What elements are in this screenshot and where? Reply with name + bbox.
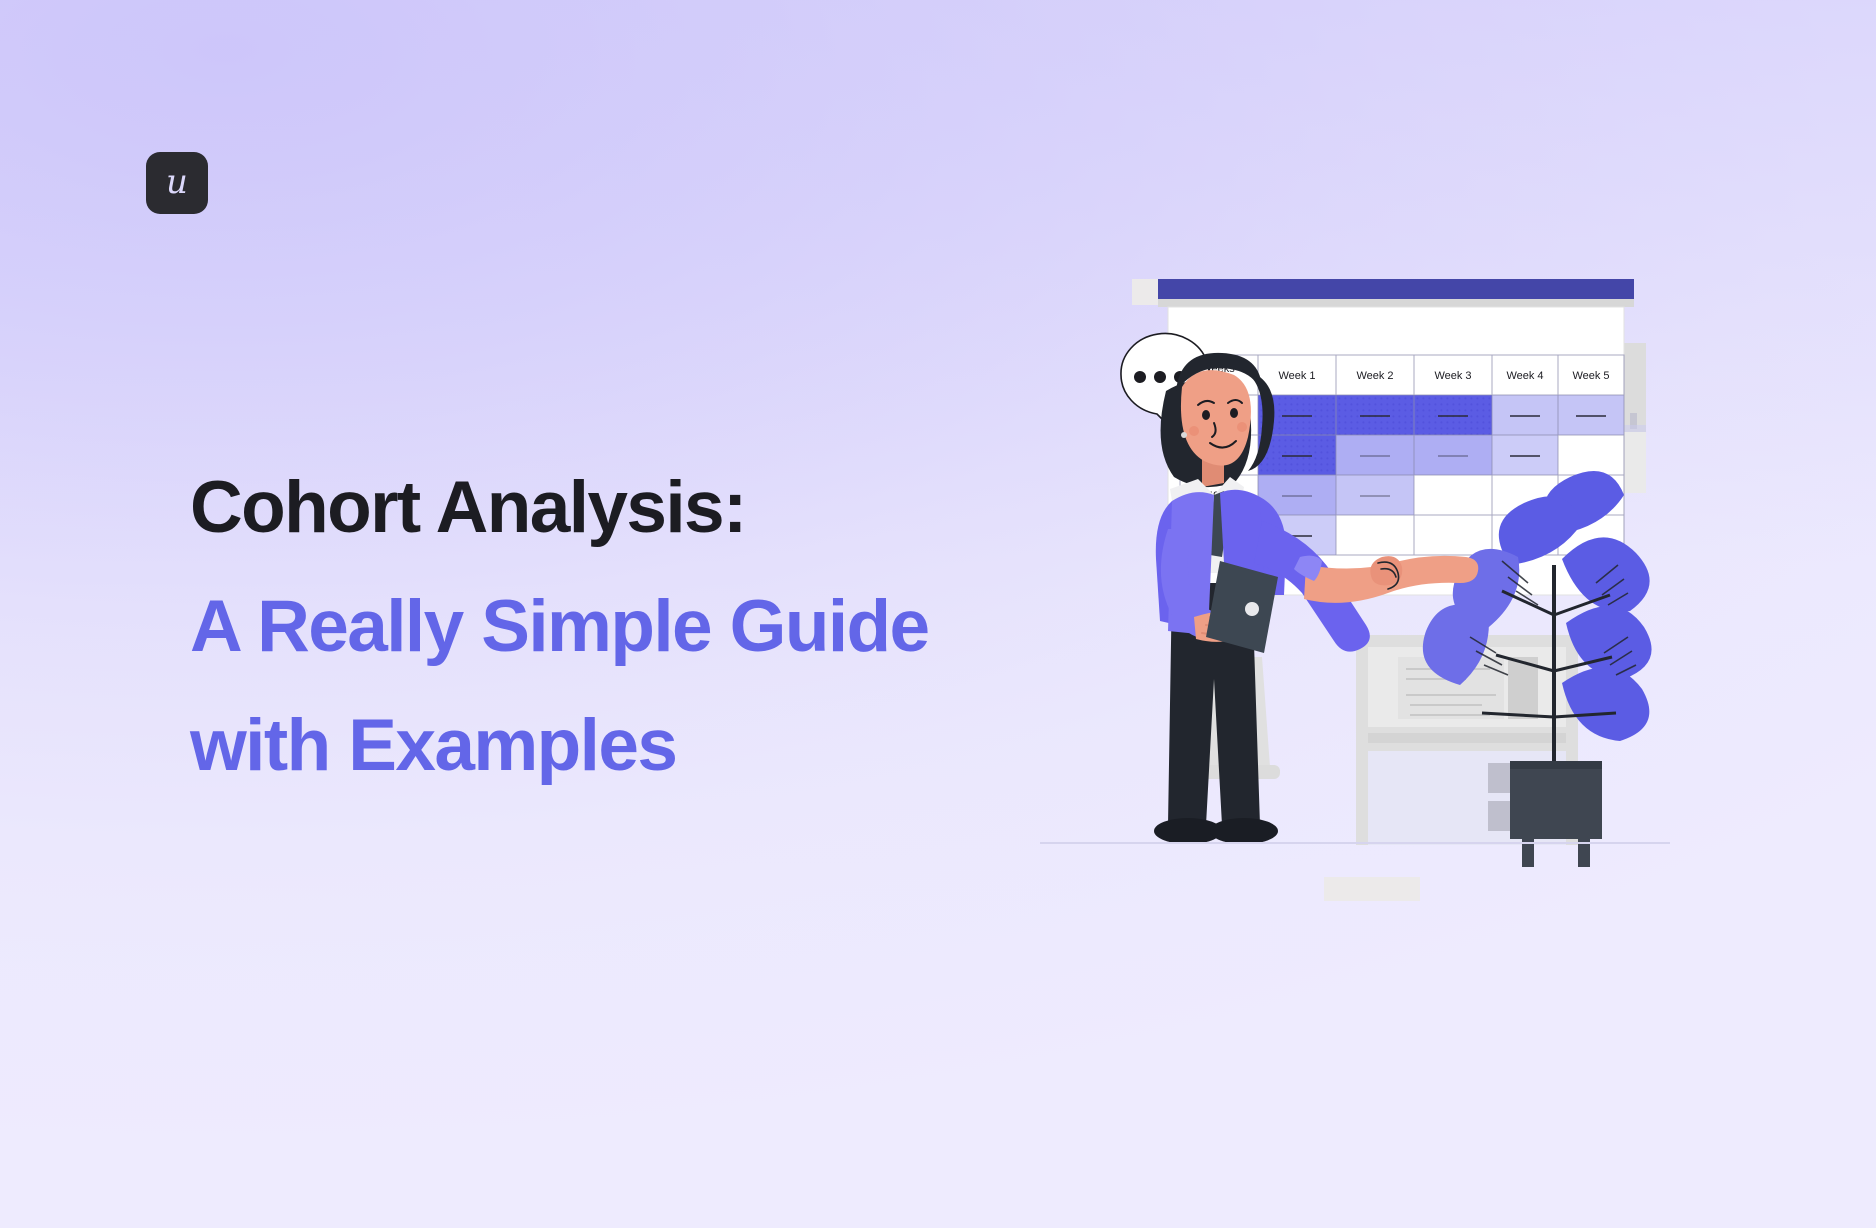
headline-line-2: A Really Simple Guide: [190, 567, 1130, 686]
page-title: Cohort Analysis: A Really Simple Guide w…: [190, 448, 1130, 805]
userpilot-logo[interactable]: u: [146, 152, 208, 214]
cohort-col-week-3: Week 3: [1434, 370, 1471, 382]
logo-glyph: u: [166, 165, 188, 199]
bubble-dot-1: [1134, 371, 1146, 383]
cohort-col-week-1: Week 1: [1278, 370, 1315, 382]
bubble-dot-2: [1154, 371, 1166, 383]
cohort-col-week-5: Week 5: [1572, 370, 1609, 382]
cohort-col-week-4: Week 4: [1506, 370, 1543, 382]
hero-illustration: Weeks joined Week 1 Week 2 Week 3 Week 4…: [1110, 265, 1670, 905]
headline-line-3: with Examples: [190, 686, 1130, 805]
cohort-col-week-2: Week 2: [1356, 370, 1393, 382]
hero-banner: u Cohort Analysis: A Really Simple Guide…: [0, 0, 1876, 1228]
headline-line-1: Cohort Analysis:: [190, 448, 1130, 567]
